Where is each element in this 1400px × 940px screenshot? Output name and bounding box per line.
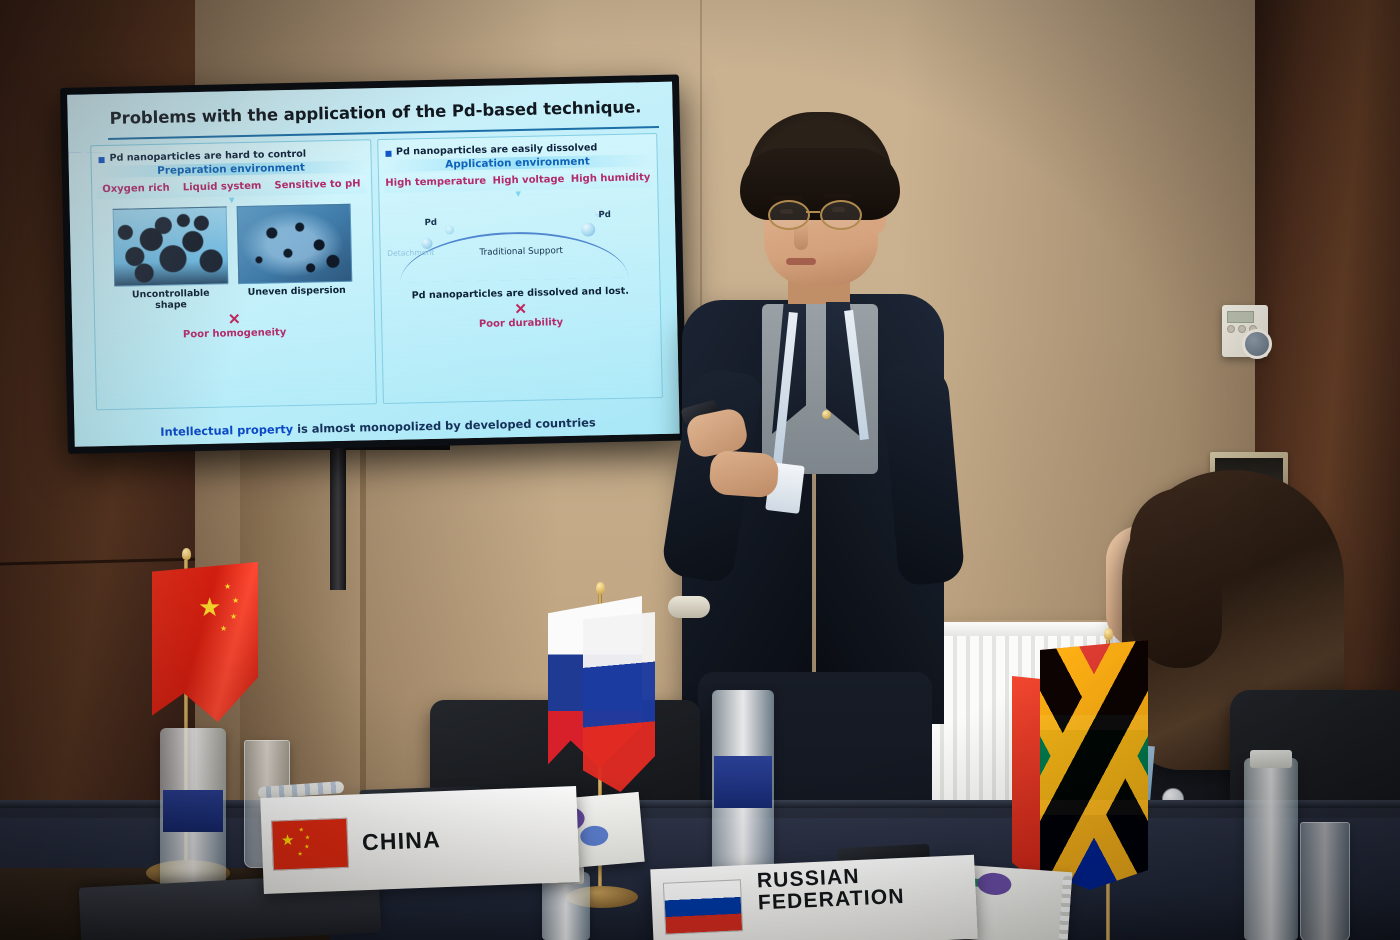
presenter-lapel-pin-icon bbox=[822, 410, 831, 419]
china-star-large-icon: ★ bbox=[198, 592, 221, 623]
nameplate-russian-federation: RUSSIAN FEDERATION bbox=[650, 855, 977, 940]
chip-liquid-system: Liquid system bbox=[183, 181, 262, 194]
presenter-glasses-icon bbox=[762, 200, 882, 226]
china-star-small-4-icon: ★ bbox=[220, 624, 227, 633]
nameplate-russia-label: RUSSIAN FEDERATION bbox=[756, 855, 964, 914]
chip-high-voltage: High voltage bbox=[492, 174, 564, 187]
slide-bottom-banner: Intellectual property is almost monopoli… bbox=[90, 414, 665, 441]
thermostat-button-2[interactable] bbox=[1238, 325, 1246, 333]
display-stand-neck bbox=[330, 440, 346, 590]
china-icon-star-large: ★ bbox=[281, 831, 295, 850]
china-icon-star-2: ★ bbox=[305, 834, 311, 841]
screen-panel: Problems with the application of the Pd-… bbox=[67, 82, 680, 447]
presenter-brow-right bbox=[824, 194, 854, 198]
water-bottle-right-cap bbox=[1250, 750, 1292, 768]
nameplate-china: ★ ★ ★ ★ ★ CHINA bbox=[260, 786, 579, 894]
china-icon-star-3: ★ bbox=[304, 843, 310, 850]
water-bottle-right[interactable] bbox=[1244, 758, 1298, 940]
glasses-bridge bbox=[806, 211, 820, 213]
presenter-hand-right bbox=[709, 450, 780, 499]
glasses-lens-right bbox=[820, 200, 862, 230]
thermostat-button-1[interactable] bbox=[1227, 325, 1235, 333]
china-icon-star-1: ★ bbox=[298, 826, 304, 833]
left-micrograph-group bbox=[98, 203, 368, 287]
thermostat-lcd-icon bbox=[1227, 311, 1254, 323]
thermostat-dial[interactable] bbox=[1242, 329, 1272, 359]
china-star-small-2-icon: ★ bbox=[232, 596, 239, 605]
russia-flag-finial bbox=[596, 582, 605, 594]
russia-flag-cloth-fold bbox=[583, 612, 655, 792]
chip-oxygen-rich: Oxygen rich bbox=[102, 183, 170, 195]
slide-right-column: Pd nanoparticles are easily dissolved Ap… bbox=[377, 133, 663, 404]
china-flag-icon: ★ ★ ★ ★ ★ bbox=[271, 818, 349, 871]
presentation-slide: Problems with the application of the Pd-… bbox=[67, 82, 680, 447]
chip-high-temperature: High temperature bbox=[385, 176, 486, 189]
china-icon-star-4: ★ bbox=[297, 851, 303, 858]
chip-sensitive-ph: Sensitive to pH bbox=[274, 178, 360, 191]
south-africa-flag-cloth bbox=[1040, 640, 1148, 890]
nameplate-china-label: CHINA bbox=[362, 827, 442, 854]
left-micrograph-captions: Uncontrollable shape Uneven dispersion bbox=[99, 284, 368, 312]
south-africa-flag-finial bbox=[1104, 628, 1113, 640]
micrograph-uneven-dispersion bbox=[237, 204, 353, 284]
wall-mounted-flat-screen[interactable]: Problems with the application of the Pd-… bbox=[60, 74, 687, 453]
water-bottle-left-label bbox=[163, 790, 223, 832]
micrograph-uncontrollable-shape bbox=[113, 206, 229, 286]
presenter-mouth bbox=[786, 258, 816, 265]
china-star-small-1-icon: ★ bbox=[224, 582, 231, 591]
slide-columns: Pd nanoparticles are hard to control Pre… bbox=[90, 133, 663, 410]
bullet-square-icon bbox=[385, 151, 391, 157]
caption-uneven-dispersion: Uneven dispersion bbox=[241, 285, 353, 309]
traditional-support-label: Traditional Support bbox=[473, 247, 569, 259]
banner-highlight: Intellectual property bbox=[160, 422, 293, 439]
chip-high-humidity: High humidity bbox=[571, 172, 651, 185]
slide-left-column: Pd nanoparticles are hard to control Pre… bbox=[90, 139, 376, 410]
detachment-label: Detachment bbox=[387, 248, 434, 258]
booklet-blob-blue bbox=[579, 825, 609, 847]
pd-label-right: Pd bbox=[598, 210, 611, 220]
presenter-nose bbox=[794, 224, 808, 250]
pd-label-left: Pd bbox=[424, 218, 437, 228]
wall-thermostat[interactable] bbox=[1222, 305, 1268, 357]
caption-uncontrollable-shape: Uncontrollable shape bbox=[115, 287, 227, 311]
bullet-square-icon bbox=[99, 157, 105, 163]
pd-nanoparticle-drift-a bbox=[445, 225, 454, 234]
china-star-small-3-icon: ★ bbox=[230, 612, 237, 621]
banner-rest: is almost monopolized by developed count… bbox=[293, 415, 596, 436]
south-africa-flag-y-band bbox=[1040, 640, 1148, 890]
pd-detachment-diagram: Pd Pd Detachment Traditional Support bbox=[384, 199, 654, 289]
drinking-glass-right[interactable] bbox=[1300, 822, 1350, 940]
water-bottle-center-label bbox=[714, 756, 772, 808]
conference-room-scene: Problems with the application of the Pd-… bbox=[0, 0, 1400, 940]
china-flag-finial bbox=[182, 548, 191, 560]
russia-flag-icon bbox=[663, 879, 743, 934]
pd-nanoparticle-right bbox=[581, 222, 595, 236]
chair-armrest bbox=[668, 596, 710, 618]
